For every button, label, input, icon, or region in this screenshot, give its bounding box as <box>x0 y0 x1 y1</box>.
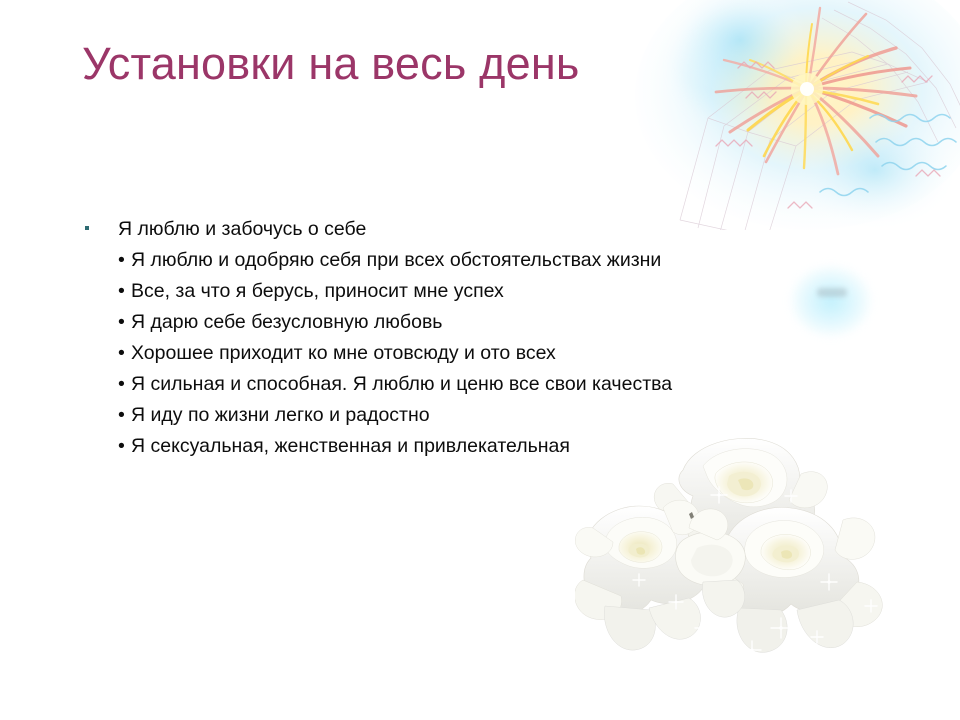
round-bullet-icon: • <box>118 369 125 400</box>
list-item: • Я люблю и одобряю себя при всех обстоя… <box>80 245 910 276</box>
round-bullet-icon: • <box>118 245 125 276</box>
list-item-label: Я люблю и забочусь о себе <box>118 218 366 240</box>
slide-canvas: Установки на весь день Я люблю и забочус… <box>0 0 960 720</box>
list-item-label: Все, за что я берусь, приносит мне успех <box>131 280 504 302</box>
round-bullet-icon: • <box>118 338 125 369</box>
list-item: • Все, за что я берусь, приносит мне усп… <box>80 276 910 307</box>
list-item: • Я сексуальная, женственная и привлекат… <box>80 431 910 462</box>
round-bullet-icon: • <box>118 276 125 307</box>
list-item: • Хорошее приходит ко мне отовсюду и ото… <box>80 338 910 369</box>
list-item-label: Я иду по жизни легко и радостно <box>131 404 430 426</box>
list-item-label: Я люблю и одобряю себя при всех обстояте… <box>131 249 661 271</box>
list-item-label: Я сильная и способная. Я люблю и ценю вс… <box>131 373 672 395</box>
round-bullet-icon: • <box>118 400 125 431</box>
list-item: • Я дарю себе безусловную любовь <box>80 307 910 338</box>
list-item-label: Я дарю себе безусловную любовь <box>131 311 442 333</box>
list-item: • Я сильная и способная. Я люблю и ценю … <box>80 369 910 400</box>
white-roses-image <box>575 432 905 682</box>
list-item: • Я иду по жизни легко и радостно <box>80 400 910 431</box>
fireworks-icon <box>620 0 960 230</box>
page-title: Установки на весь день <box>82 36 802 92</box>
bullet-list: Я люблю и забочусь о себе • Я люблю и од… <box>80 214 910 462</box>
square-bullet-icon <box>85 226 89 230</box>
round-bullet-icon: • <box>118 307 125 338</box>
round-bullet-icon: • <box>118 431 125 462</box>
list-item: Я люблю и забочусь о себе <box>80 214 910 245</box>
list-item-label: Хорошее приходит ко мне отовсюду и ото в… <box>131 342 556 364</box>
list-item-label: Я сексуальная, женственная и привлекател… <box>131 435 570 457</box>
